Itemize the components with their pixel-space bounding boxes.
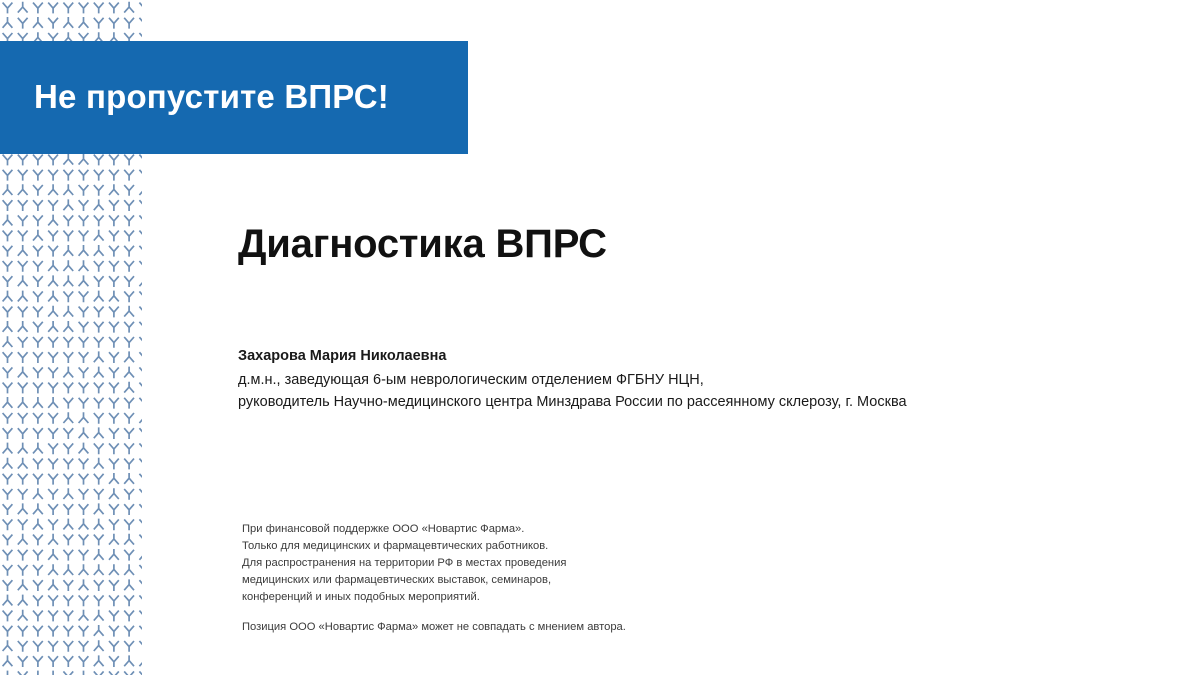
slide-content: Диагностика ВПРС Захарова Мария Николаев…: [238, 0, 1178, 675]
disclaimer-line: конференций и иных подобных мероприятий.: [242, 589, 882, 606]
author-affiliation-line-1: д.м.н., заведующая 6-ым неврологическим …: [238, 370, 1058, 391]
disclaimer-line: Только для медицинских и фармацевтически…: [242, 538, 882, 555]
page-title: Диагностика ВПРС: [238, 222, 607, 266]
disclaimer-spacer: [242, 606, 882, 619]
disclaimer-block: При финансовой поддержке ООО «Новартис Ф…: [242, 521, 882, 636]
disclaimer-line: При финансовой поддержке ООО «Новартис Ф…: [242, 521, 882, 538]
disclaimer-line: медицинских или фармацевтических выставо…: [242, 572, 882, 589]
author-name: Захарова Мария Николаевна: [238, 345, 1058, 367]
disclaimer-line: Позиция ООО «Новартис Фарма» может не со…: [242, 619, 882, 636]
author-block: Захарова Мария Николаевна д.м.н., заведу…: [238, 345, 1058, 413]
presentation-slide: Не пропустите ВПРС! Диагностика ВПРС Зах…: [0, 0, 1200, 675]
disclaimer-line: Для распространения на территории РФ в м…: [242, 555, 882, 572]
author-affiliation-line-2: руководитель Научно-медицинского центра …: [238, 392, 1058, 413]
